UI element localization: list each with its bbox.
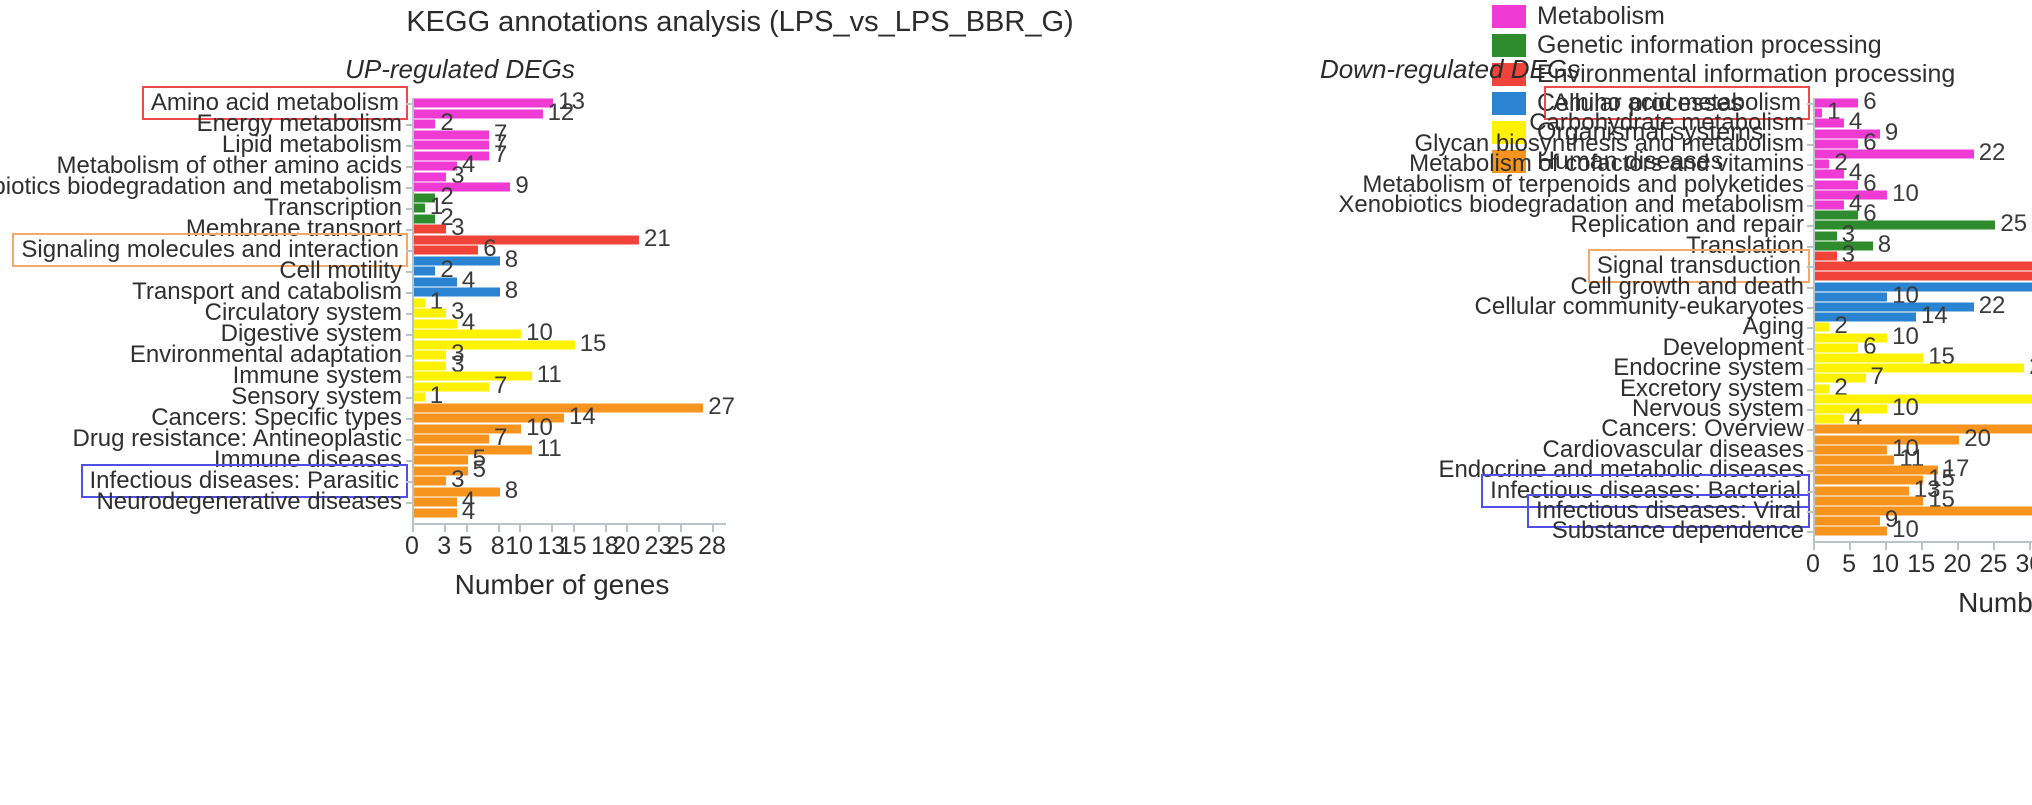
bar — [414, 256, 500, 265]
bar — [1815, 109, 1822, 118]
y-axis-tick — [406, 250, 413, 252]
bar — [1815, 476, 1923, 485]
x-axis-tick-label: 20 — [612, 532, 640, 561]
bar — [1815, 180, 1858, 189]
x-axis-tick — [1813, 543, 1815, 550]
plot-area-up-regulated: Amino acid metabolismEnergy metabolismLi… — [0, 90, 740, 710]
bar — [414, 130, 489, 139]
bar — [1815, 160, 1829, 169]
y-axis-tick — [1807, 389, 1814, 391]
bar — [1815, 415, 1844, 424]
x-axis-tick — [466, 525, 468, 532]
bar — [414, 277, 457, 286]
x-axis-tick-label: 10 — [1871, 550, 1899, 579]
bar — [414, 319, 457, 328]
y-axis-tick — [406, 145, 413, 147]
bar-value-label: 8 — [505, 279, 518, 303]
bar — [414, 393, 425, 402]
y-axis-tick — [406, 502, 413, 504]
bar-value-label: 7 — [494, 374, 507, 398]
bar — [414, 382, 489, 391]
bar — [1815, 282, 2032, 291]
bar-value-label: 22 — [1979, 294, 2006, 318]
bar — [1815, 323, 1829, 332]
bar — [1815, 303, 1974, 312]
bar — [414, 99, 553, 108]
bar — [414, 141, 489, 150]
bar-value-label: 25 — [2000, 212, 2027, 236]
bar-value-label: 10 — [1892, 325, 1919, 349]
y-axis-tick — [1807, 470, 1814, 472]
bar-value-label: 14 — [569, 405, 596, 429]
y-axis-tick — [406, 355, 413, 357]
y-axis-tick — [1807, 266, 1814, 268]
y-axis-tick — [406, 397, 413, 399]
panel-title-down-regulated: Down-regulated DEGs — [920, 54, 1980, 84]
y-axis-tick — [1807, 491, 1814, 493]
x-axis-tick-label: 0 — [405, 532, 419, 561]
bar — [1815, 201, 1844, 210]
y-axis-tick — [406, 229, 413, 231]
bar-value-label: 5 — [473, 458, 486, 482]
bar — [1815, 354, 1923, 363]
y-axis-tick — [1807, 123, 1814, 125]
bar-value-label: 21 — [644, 227, 671, 251]
y-axis-tick — [406, 292, 413, 294]
x-axis-tick-label: 10 — [505, 532, 533, 561]
y-axis-tick — [406, 376, 413, 378]
x-axis-tick — [2029, 543, 2031, 550]
y-axis-tick — [1807, 531, 1814, 533]
y-axis-tick — [1807, 246, 1814, 248]
bar — [1815, 139, 1858, 148]
legend-item-label: Metabolism — [1537, 4, 1665, 29]
x-axis-tick-label: 5 — [1842, 550, 1856, 579]
bar-value-label: 8 — [1878, 233, 1891, 257]
y-axis-tick — [1807, 185, 1814, 187]
bar-value-label: 9 — [1885, 121, 1898, 145]
bar — [1815, 364, 2024, 373]
bar — [1815, 507, 2032, 516]
y-axis-tick — [1807, 368, 1814, 370]
bar — [414, 508, 457, 517]
x-axis-tick — [626, 525, 628, 532]
x-axis-tick — [1957, 543, 1959, 550]
y-axis-tick — [1807, 450, 1814, 452]
y-axis-tick — [1807, 225, 1814, 227]
legend-color-swatch — [1492, 5, 1526, 28]
bar — [414, 246, 478, 255]
bar — [1815, 313, 1916, 322]
x-axis-tick-label: 3 — [437, 532, 451, 561]
y-axis-tick — [1807, 409, 1814, 411]
y-axis-tick — [406, 124, 413, 126]
x-axis-tick — [444, 525, 446, 532]
bar — [1815, 252, 1837, 261]
bar-value-label: 9 — [515, 174, 528, 198]
bar-value-label: 10 — [1892, 182, 1919, 206]
x-axis-tick-label: 8 — [491, 532, 505, 561]
x-axis-tick-label: 15 — [1907, 550, 1935, 579]
bar-value-label: 22 — [1979, 141, 2006, 165]
x-axis-tick-label: 5 — [459, 532, 473, 561]
x-axis-tick — [519, 525, 521, 532]
bar — [1815, 343, 1858, 352]
bar — [414, 372, 532, 381]
bar — [1815, 486, 1909, 495]
bar-value-label: 7 — [494, 143, 507, 167]
y-axis-tick — [406, 271, 413, 273]
bar — [1815, 262, 2032, 271]
bar — [1815, 272, 2032, 281]
bar-value-label: 6 — [1863, 90, 1876, 114]
bar — [414, 120, 435, 129]
x-axis-tick — [551, 525, 553, 532]
bar — [414, 214, 435, 223]
y-axis-tick — [406, 166, 413, 168]
x-axis-tick — [498, 525, 500, 532]
x-axis-tick — [1921, 543, 1923, 550]
x-axis-tick — [412, 525, 414, 532]
bar — [1815, 425, 2032, 434]
bar — [414, 351, 446, 360]
x-axis-tick — [658, 525, 660, 532]
bar — [1815, 211, 1858, 220]
x-axis-tick — [680, 525, 682, 532]
bar — [1815, 517, 1880, 526]
bar — [414, 498, 457, 507]
bar — [414, 309, 446, 318]
panel-title-up-regulated: UP-regulated DEGs — [180, 54, 740, 84]
y-axis-tick — [406, 334, 413, 336]
bar — [1815, 466, 1938, 475]
bar — [414, 403, 703, 412]
y-axis-tick — [1807, 348, 1814, 350]
bar — [1815, 456, 1894, 465]
x-axis-title: Number of genes — [372, 569, 752, 601]
x-axis-tick-label: 30 — [2016, 550, 2032, 579]
y-axis-tick — [406, 313, 413, 315]
bar — [414, 235, 639, 244]
bar-value-label: 10 — [1892, 396, 1919, 420]
x-axis-tick — [605, 525, 607, 532]
bar-value-label: 8 — [505, 248, 518, 272]
bar — [1815, 170, 1844, 179]
bar — [414, 109, 543, 118]
page-title: KEGG annotations analysis (LPS_vs_LPS_BB… — [0, 6, 1480, 39]
y-axis-tick — [1807, 511, 1814, 513]
bar-value-label: 4 — [462, 500, 475, 524]
bar-value-label: 20 — [1964, 427, 1991, 451]
bar — [414, 361, 446, 370]
bar — [1815, 231, 1837, 240]
plot-area-down-regulated: Amino acid metabolismCarbohydrate metabo… — [700, 90, 2032, 710]
y-axis-tick — [406, 208, 413, 210]
y-axis-tick — [1807, 307, 1814, 309]
chart-panel-down-regulated: Down-regulated DEGs Amino acid metabolis… — [700, 54, 2032, 754]
bar — [1815, 496, 1923, 505]
bar — [414, 340, 575, 349]
bar — [1815, 527, 1887, 536]
y-axis-tick — [1807, 144, 1814, 146]
y-axis-tick — [406, 460, 413, 462]
bar — [414, 151, 489, 160]
x-axis-tick-label: 20 — [1943, 550, 1971, 579]
bar-value-label: 7 — [1871, 365, 1884, 389]
bar — [414, 225, 446, 234]
bar-value-label: 12 — [548, 101, 575, 125]
bar-value-label: 15 — [580, 332, 607, 356]
bar — [1815, 394, 2032, 403]
y-axis-tick — [1807, 327, 1814, 329]
bar — [414, 183, 510, 192]
y-axis-tick — [406, 418, 413, 420]
bar — [414, 477, 446, 486]
bar — [414, 298, 425, 307]
bar — [1815, 292, 1887, 301]
bar — [414, 435, 489, 444]
bar — [1815, 384, 1829, 393]
y-axis-tick — [406, 187, 413, 189]
x-axis-title: Number of genes — [1773, 587, 2032, 619]
bar — [414, 456, 468, 465]
x-axis-tick-label: 15 — [559, 532, 587, 561]
bar — [1815, 119, 1844, 128]
bar — [414, 267, 435, 276]
bar — [1815, 435, 1959, 444]
y-axis-tick — [1807, 103, 1814, 105]
bar — [414, 288, 500, 297]
bar — [414, 172, 446, 181]
x-axis-tick-label: 25 — [666, 532, 694, 561]
y-axis-tick — [1807, 164, 1814, 166]
bar-value-label: 10 — [1892, 518, 1919, 542]
x-axis-tick — [573, 525, 575, 532]
y-axis-tick — [1807, 429, 1814, 431]
bar-value-label: 11 — [537, 363, 562, 387]
bar — [414, 487, 500, 496]
x-axis-tick — [1849, 543, 1851, 550]
bar — [1815, 445, 1887, 454]
bar — [414, 204, 425, 213]
x-axis-tick — [1885, 543, 1887, 550]
bar-value-label: 8 — [505, 479, 518, 503]
y-axis-tick — [406, 439, 413, 441]
bar-value-label: 11 — [537, 437, 562, 461]
x-axis-tick — [1993, 543, 1995, 550]
bar-value-label: 14 — [1921, 304, 1948, 328]
legend-item: Metabolism — [1492, 4, 1955, 29]
x-axis-tick-label: 25 — [1979, 550, 2007, 579]
chart-panel-up-regulated: UP-regulated DEGs Amino acid metabolismE… — [0, 54, 740, 754]
category-label: Substance dependence — [1546, 517, 1810, 545]
y-axis-tick — [406, 103, 413, 105]
y-axis-tick — [1807, 287, 1814, 289]
y-axis-tick — [406, 481, 413, 483]
y-axis-tick — [1807, 205, 1814, 207]
bar — [414, 330, 521, 339]
category-label: Neurodegenerative diseases — [90, 488, 408, 516]
x-axis-tick-label: 0 — [1806, 550, 1820, 579]
